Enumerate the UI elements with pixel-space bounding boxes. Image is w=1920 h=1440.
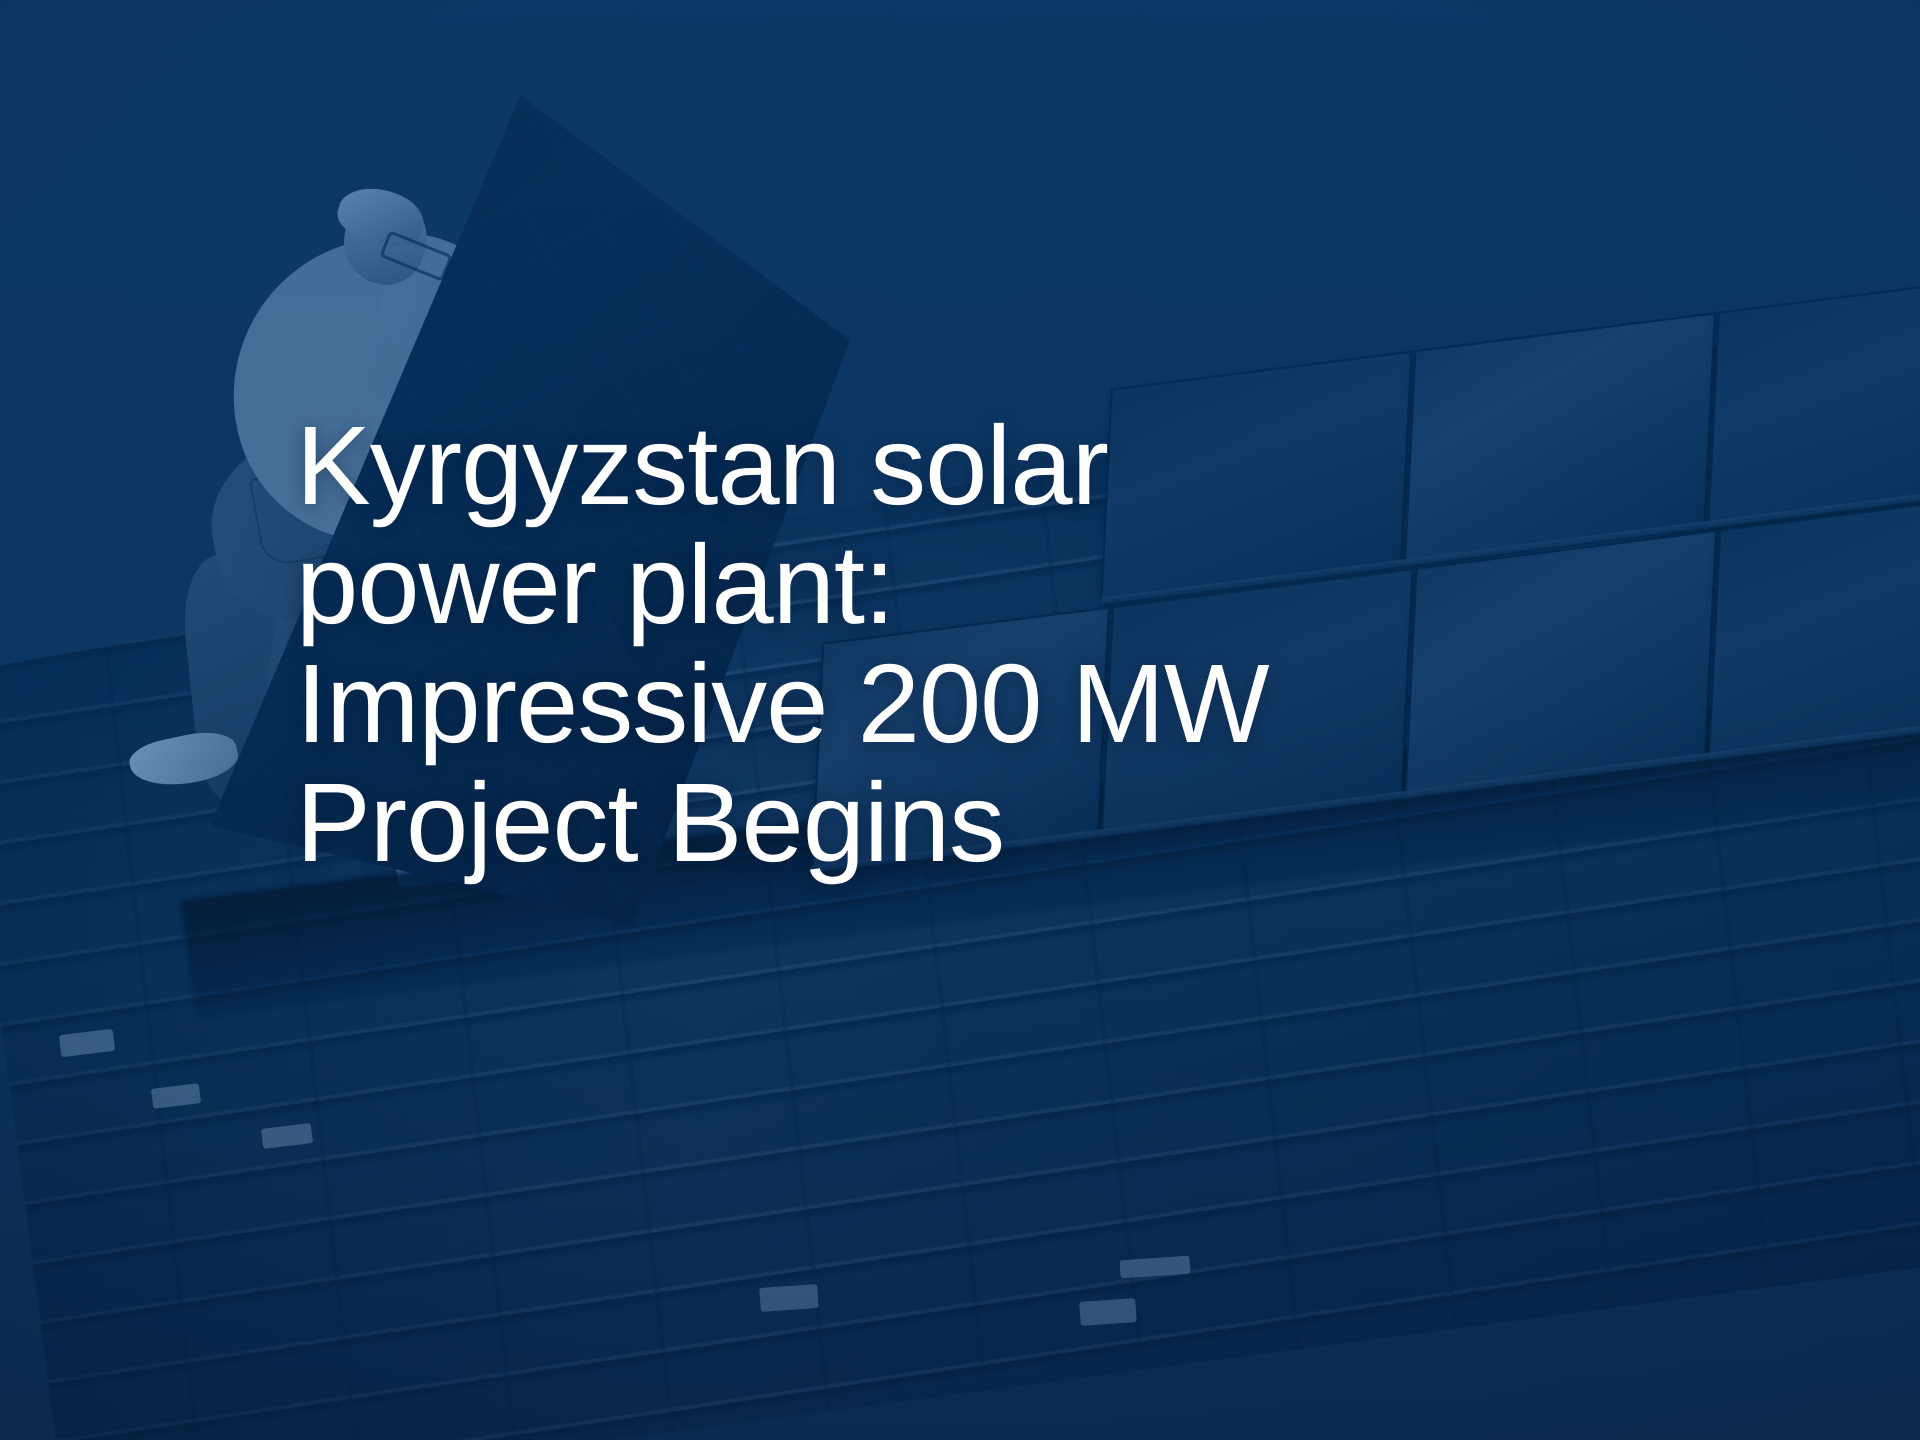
headline-line-2: power plant: (296, 525, 1316, 644)
headline-line-1: Kyrgyzstan solar (296, 406, 1316, 525)
hero-card: Kyrgyzstan solar power plant: Impressive… (0, 0, 1920, 1440)
headline-line-3: Impressive 200 MW (296, 644, 1316, 763)
headline: Kyrgyzstan solar power plant: Impressive… (296, 406, 1316, 882)
headline-line-4: Project Begins (296, 763, 1316, 882)
